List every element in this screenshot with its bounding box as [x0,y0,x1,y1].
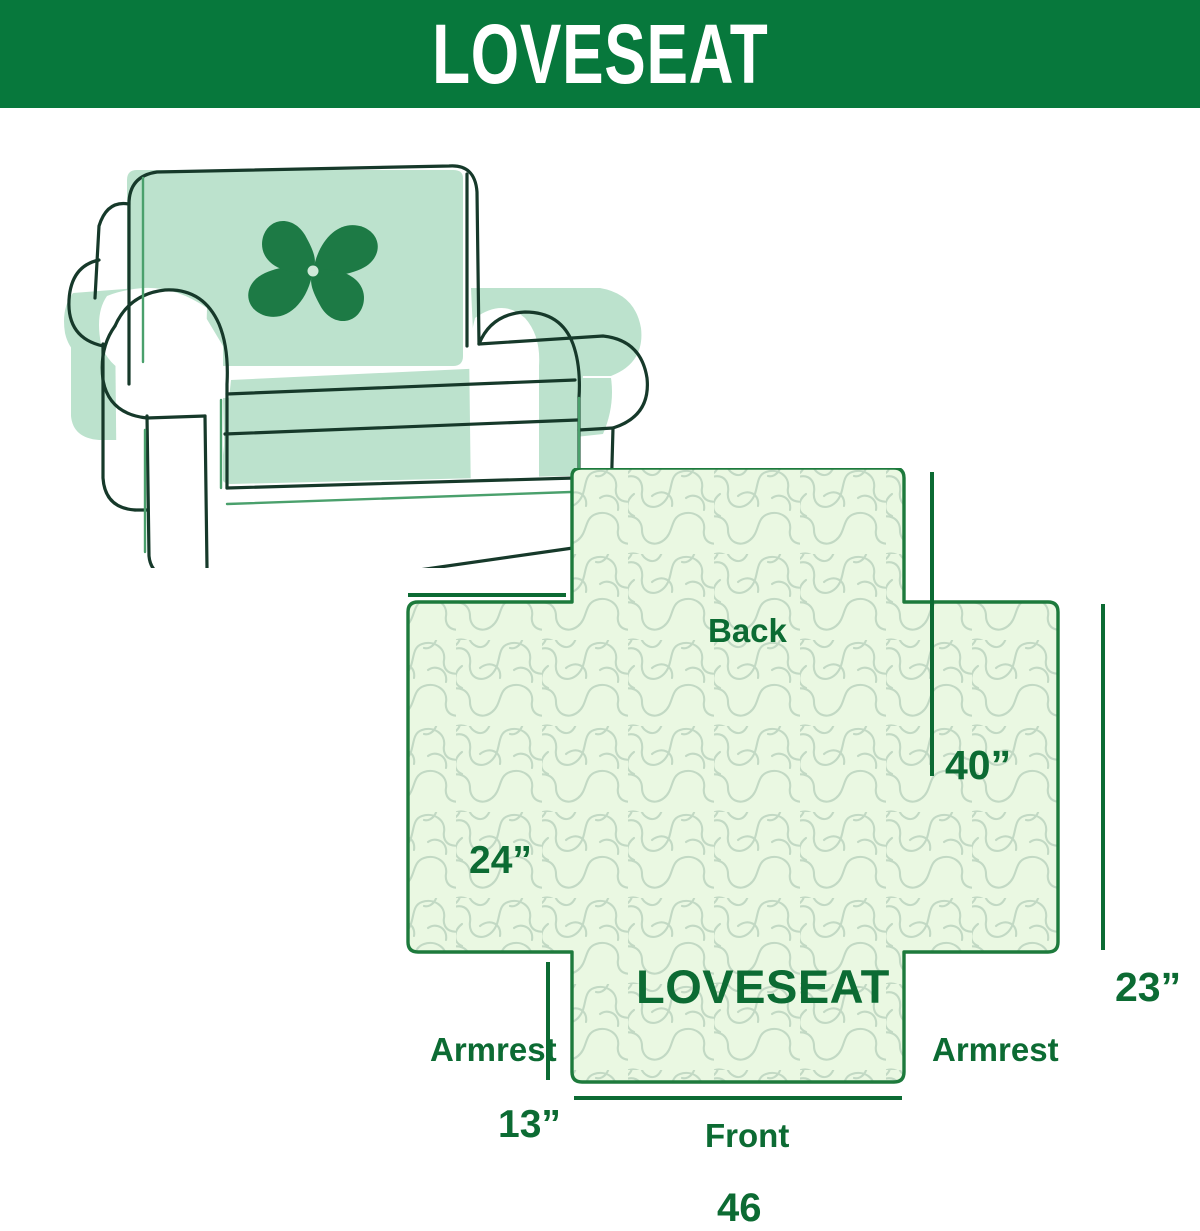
panel-label-front: Front [705,1117,789,1155]
cover-diagram-svg [370,468,1200,1198]
panel-label-armrest-left: Armrest [430,1031,557,1069]
panel-label-armrest-right: Armrest [932,1031,1059,1069]
page-title: LOVESEAT [432,12,768,96]
dimension-label-back-height: 40” [945,742,1011,789]
dimension-label-arm-width: 24” [469,839,532,883]
panel-label-back: Back [708,612,787,650]
dimension-label-front-height: 13” [498,1103,561,1147]
dimension-label-armrest-depth: 23” [1115,964,1181,1011]
content-area: Back LOVESEAT Armrest Armrest Front 40” … [0,108,1200,1200]
header-banner: LOVESEAT [0,0,1200,108]
cover-cutout-diagram [370,468,1200,1198]
dimension-label-seat-width: 46 [717,1186,762,1231]
diagram-center-label: LOVESEAT [636,959,890,1014]
